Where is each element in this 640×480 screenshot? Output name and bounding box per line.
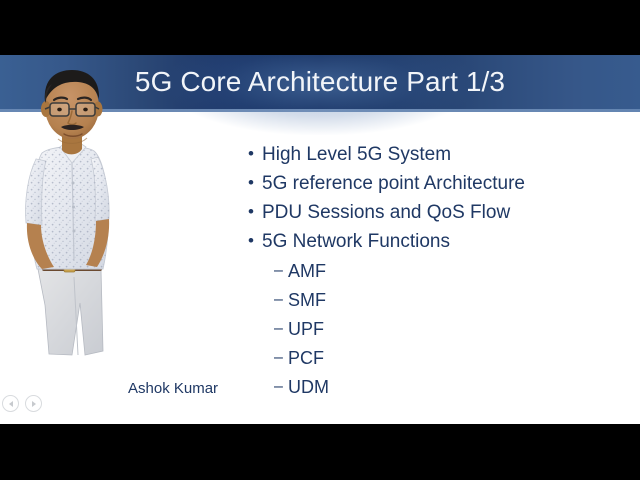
bullet-label: 5G reference point Architecture (262, 170, 525, 197)
letterbox-top (0, 0, 640, 55)
play-icon (32, 401, 36, 407)
slide-bullet-list: • High Level 5G System • 5G reference po… (248, 141, 628, 403)
bullet-item: • 5G Network Functions (248, 228, 628, 257)
bullet-label: PDU Sessions and QoS Flow (262, 199, 510, 226)
presenter-name: Ashok Kumar (128, 380, 218, 397)
sub-bullet-item: – SMF (274, 287, 628, 316)
bullet-marker-icon: • (248, 199, 262, 225)
sub-bullet-marker-icon: – (274, 258, 288, 284)
sub-bullet-label: UDM (288, 374, 329, 400)
sub-bullet-label: SMF (288, 287, 326, 313)
bullet-marker-icon: • (248, 141, 262, 167)
sub-bullet-marker-icon: – (274, 345, 288, 371)
bullet-item: • PDU Sessions and QoS Flow (248, 199, 628, 228)
sub-bullet-label: PCF (288, 345, 324, 371)
previous-button[interactable] (2, 395, 19, 412)
bullet-item: • 5G reference point Architecture (248, 170, 628, 199)
bullet-label: High Level 5G System (262, 141, 451, 168)
previous-icon (9, 401, 13, 407)
bullet-marker-icon: • (248, 228, 262, 254)
sub-bullet-marker-icon: – (274, 374, 288, 400)
sub-bullet-marker-icon: – (274, 316, 288, 342)
bullet-item: • High Level 5G System (248, 141, 628, 170)
sub-bullet-item: – UPF (274, 316, 628, 345)
letterbox-bottom (0, 424, 640, 480)
sub-bullet-item: – UDM (274, 374, 628, 403)
sub-bullet-item: – AMF (274, 258, 628, 287)
presenter-photo (2, 55, 134, 365)
bullet-marker-icon: • (248, 170, 262, 196)
slide-sub-bullet-list: – AMF – SMF – UPF – PCF – UDM (274, 258, 628, 403)
presentation-slide: 5G Core Architecture Part 1/3 (0, 55, 640, 424)
video-mini-controls[interactable] (2, 395, 42, 412)
bullet-label: 5G Network Functions (262, 228, 450, 255)
video-player-frame: 5G Core Architecture Part 1/3 (0, 0, 640, 480)
sub-bullet-label: AMF (288, 258, 326, 284)
play-button[interactable] (25, 395, 42, 412)
sub-bullet-marker-icon: – (274, 287, 288, 313)
sub-bullet-item: – PCF (274, 345, 628, 374)
sub-bullet-label: UPF (288, 316, 324, 342)
